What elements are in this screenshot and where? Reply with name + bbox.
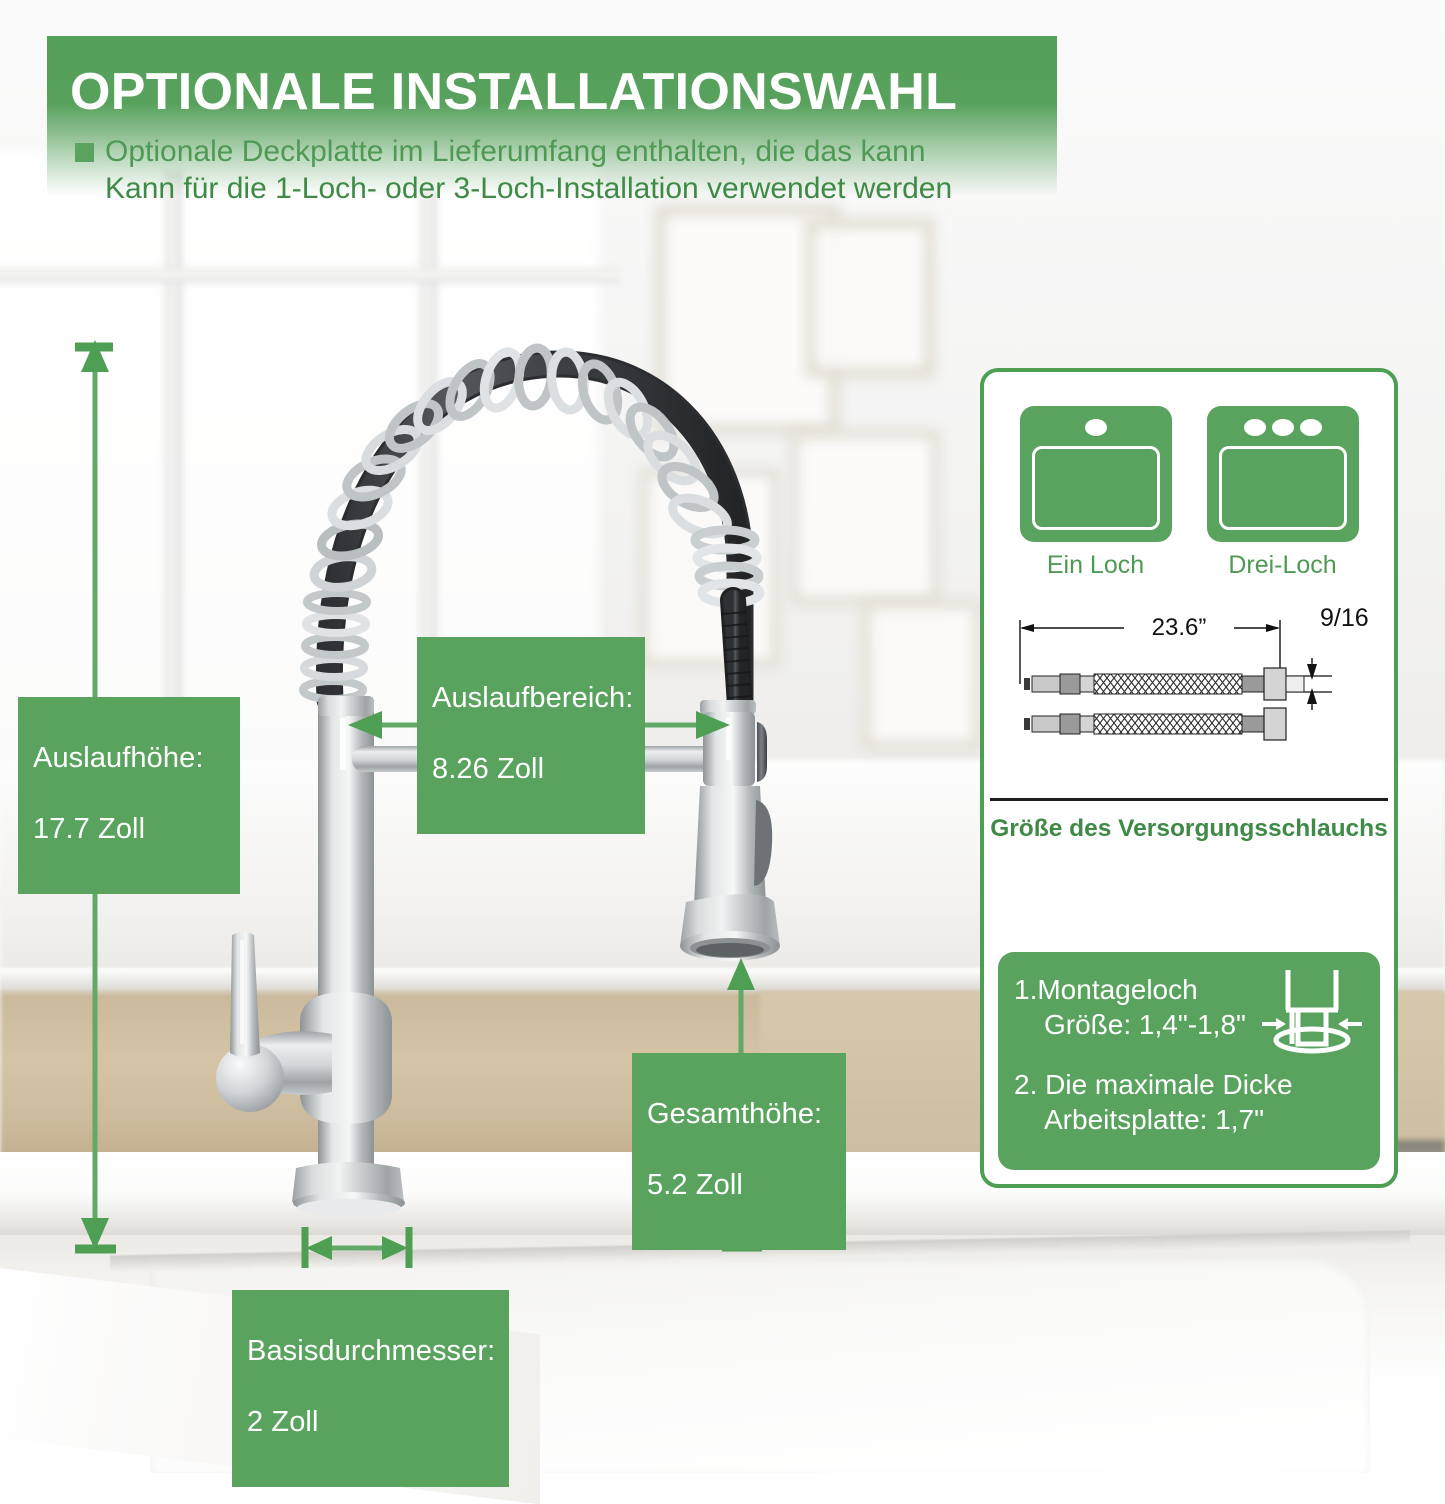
installation-notes-box: 1.Montageloch Größe: 1,4"-1,8" 2. Die ma… (998, 952, 1380, 1170)
banner-subtitle-line1-row: Optionale Deckplatte im Lieferumfang ent… (47, 122, 1057, 169)
page-title: OPTIONALE INSTALLATIONSWAHL (47, 36, 1057, 122)
hose-item-2 (1024, 708, 1286, 740)
sink-options-row: Ein Loch Drei-Loch (984, 372, 1394, 580)
spout-reach-label-value: 8.26 Zoll (432, 752, 631, 787)
sink-basin-outline (1032, 446, 1160, 530)
hose-diameter-text: 9/16 (1320, 606, 1369, 632)
base-diameter-label-value: 2 Zoll (247, 1405, 495, 1440)
base-diameter-label: Basisdurchmesser: 2 Zoll (232, 1290, 509, 1487)
sink-hole-center (1272, 419, 1294, 436)
hose-caption: Größe des Versorgungsschlauchs (984, 801, 1394, 843)
sink-hole (1085, 419, 1107, 436)
banner-subtitle-line1: Optionale Deckplatte im Lieferumfang ent… (105, 135, 926, 169)
hose-length-text: 23.6” (1152, 614, 1207, 641)
hose-item-1 (1024, 668, 1304, 700)
green-square-bullet-icon (75, 143, 94, 162)
base-diameter-label-title: Basisdurchmesser: (247, 1334, 495, 1369)
installation-info-panel: Ein Loch Drei-Loch 23.6” (980, 368, 1398, 1188)
sink-basin-outline (1219, 446, 1347, 530)
base-diameter-dimension (305, 1227, 409, 1268)
total-height-label-title: Gesamthöhe: (647, 1097, 832, 1132)
sink-hole-left (1244, 419, 1266, 436)
three-hole-sink-icon (1207, 406, 1359, 542)
header-banner: OPTIONALE INSTALLATIONSWAHL Optionale De… (47, 36, 1057, 196)
total-height-label: Gesamthöhe: 5.2 Zoll (632, 1053, 846, 1250)
spout-height-label-title: Auslaufhöhe: (33, 741, 226, 776)
banner-subtitle-line2: Kann für die 1-Loch- oder 3-Loch-Install… (47, 169, 1057, 206)
sink-option-one-hole[interactable]: Ein Loch (1020, 406, 1172, 580)
supply-hose-diagram: 23.6” 9/16 (1002, 606, 1376, 786)
one-hole-sink-icon (1020, 406, 1172, 542)
spout-height-label: Auslaufhöhe: 17.7 Zoll (18, 697, 240, 894)
total-height-label-value: 5.2 Zoll (647, 1168, 832, 1203)
spout-height-label-value: 17.7 Zoll (33, 812, 226, 847)
spout-reach-label: Auslaufbereich: 8.26 Zoll (417, 637, 645, 834)
mounting-hole-icon (1258, 964, 1366, 1060)
note-2-line1: 2. Die maximale Dicke (1014, 1067, 1380, 1102)
sink-hole-right (1300, 419, 1322, 436)
sink-option-three-hole[interactable]: Drei-Loch (1207, 406, 1359, 580)
spout-reach-label-title: Auslaufbereich: (432, 681, 631, 716)
three-hole-label: Drei-Loch (1207, 551, 1359, 580)
one-hole-label: Ein Loch (1020, 551, 1172, 580)
note-2-line2: Arbeitsplatte: 1,7" (1014, 1102, 1380, 1137)
